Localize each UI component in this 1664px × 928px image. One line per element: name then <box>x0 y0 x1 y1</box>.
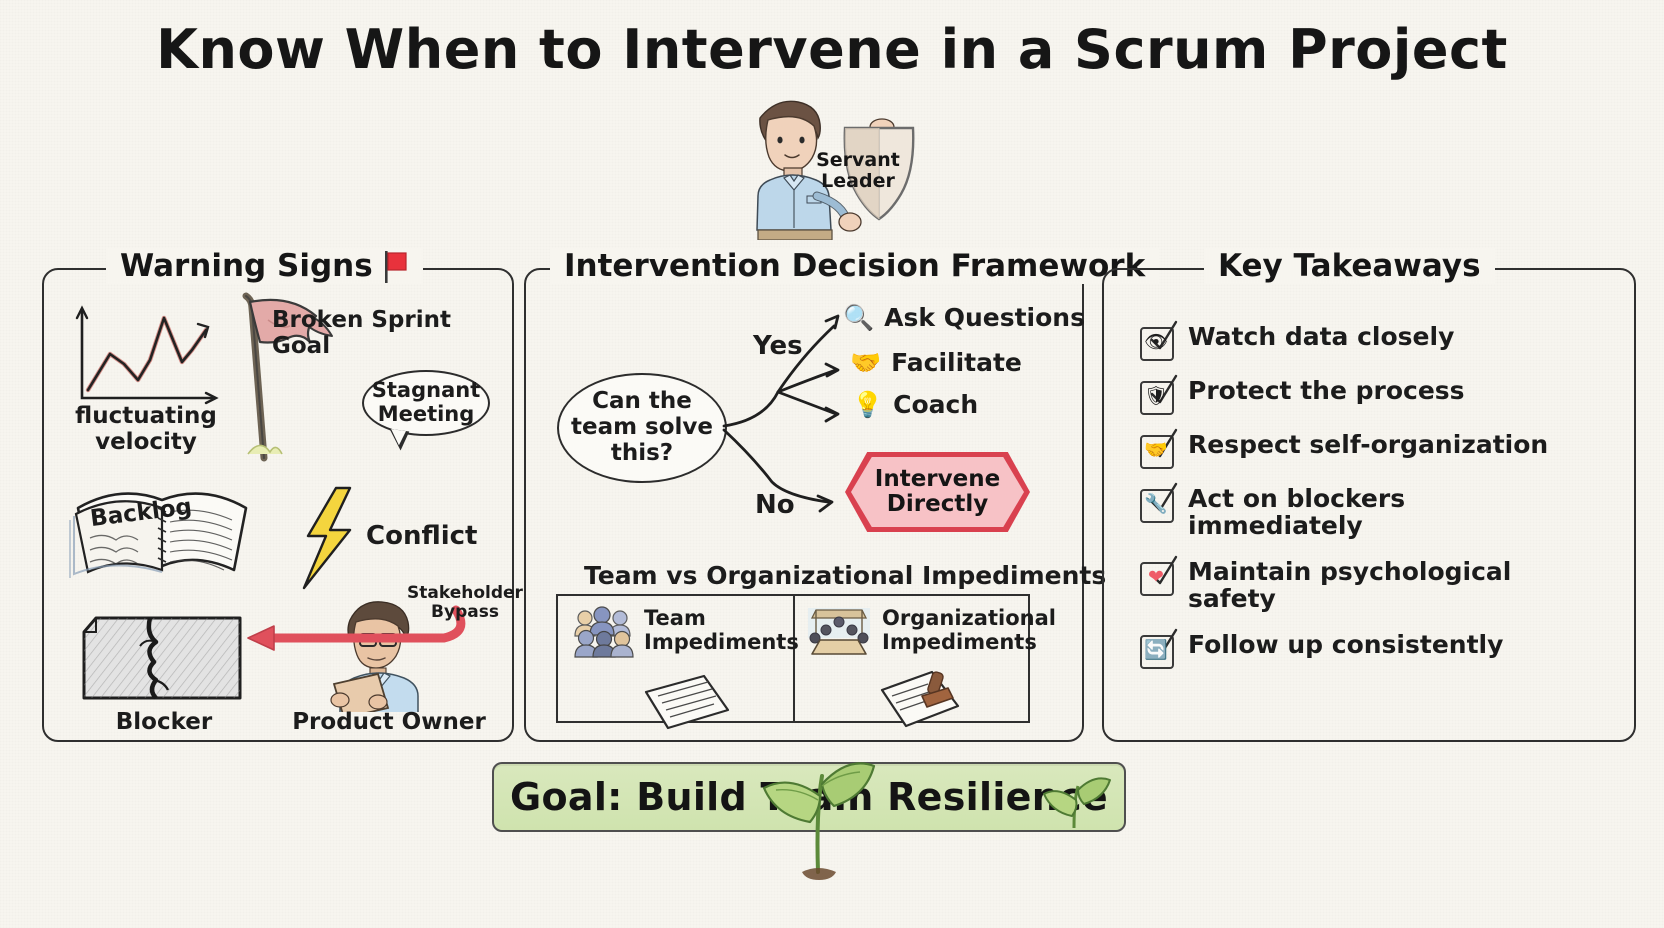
panel-takeaways-title-text: Key Takeaways <box>1218 248 1481 284</box>
takeaway-item-respect-self-organization: 🤝 Respect self-organization <box>1140 430 1616 466</box>
heart-icon: ❤ <box>1140 559 1174 593</box>
branch-ask-questions-label: Ask Questions <box>884 303 1085 332</box>
stakeholder-bypass-label: Stakeholder Bypass <box>400 584 530 622</box>
decision-question-line1: Can the <box>571 389 713 415</box>
refresh-cycle-icon: 🔄 <box>1140 632 1174 666</box>
stagnant-meeting-label-line2: Meeting <box>372 403 480 427</box>
servant-leader-illustration: Servant Leader <box>712 92 942 240</box>
product-owner-label: Product Owner <box>284 710 494 736</box>
stakeholder-bypass-label-line1: Stakeholder <box>400 584 530 603</box>
impediment-team-label-line2: Impediments <box>644 630 799 654</box>
panel-framework-title: Intervention Decision Framework <box>550 248 1159 284</box>
decision-question-line3: this? <box>571 441 713 467</box>
branch-coach: 💡 Coach <box>852 390 978 419</box>
panel-key-takeaways: Key Takeaways 👁 Watch data closely 🛡 Pro… <box>1102 268 1636 742</box>
impediment-cell-organizational: Organizational Impediments <box>806 606 1056 662</box>
goal-banner-text: Goal: Build Team Resilience <box>510 775 1108 819</box>
branch-facilitate: 🤝 Facilitate <box>850 348 1022 377</box>
page-title: Know When to Intervene in a Scrum Projec… <box>0 18 1664 81</box>
shield-label-line1: Servant <box>808 150 908 171</box>
decision-question-text: Can the team solve this? <box>571 389 713 466</box>
intervene-directly-line2: Directly <box>875 492 1000 517</box>
shield-label-line2: Leader <box>808 171 908 192</box>
panel-framework-title-text: Intervention Decision Framework <box>564 248 1145 284</box>
eye-icon: 👁 <box>1140 324 1174 358</box>
impediments-heading: Team vs Organizational Impediments <box>584 561 1106 590</box>
impediment-team-label-line1: Team <box>644 606 706 630</box>
document-icon <box>642 674 734 736</box>
takeaway-label-follow-up-consistently: Follow up consistently <box>1188 630 1503 658</box>
decision-question-node: Can the team solve this? <box>557 373 727 483</box>
impediment-cell-team: Team Impediments <box>572 606 799 662</box>
handshake-icon: 🤝 <box>850 350 881 375</box>
stagnant-meeting-bubble: Stagnant Meeting <box>362 370 490 436</box>
decision-question-line2: team solve <box>571 415 713 441</box>
yes-label: Yes <box>753 332 803 361</box>
goal-banner: Goal: Build Team Resilience <box>492 762 1126 832</box>
fluctuating-velocity-label-line2: velocity <box>66 430 226 456</box>
intervene-directly-line1: Intervene <box>875 467 1000 492</box>
lightning-bolt-icon <box>294 484 364 598</box>
takeaway-label-maintain-psychological-safety: Maintain psychological safety <box>1188 557 1511 612</box>
panel-warning-signs: Warning Signs fluctuating velocity Broke <box>42 268 514 742</box>
takeaway-label-watch-data: Watch data closely <box>1188 322 1454 350</box>
takeaway-label-act-on-blockers-line2: immediately <box>1188 511 1363 540</box>
takeaway-label-maintain-psychological-safety-line2: safety <box>1188 584 1276 613</box>
impediments-box: Team Impediments Organizational Impedime… <box>556 594 1030 723</box>
stagnant-meeting-label: Stagnant Meeting <box>372 379 480 426</box>
impediment-org-label-line1: Organizational <box>882 606 1056 630</box>
cracked-wall-icon <box>80 610 250 714</box>
impediment-org-label: Organizational Impediments <box>882 606 1056 654</box>
conflict-label: Conflict <box>366 522 477 551</box>
panel-warning-title-text: Warning Signs <box>120 248 373 284</box>
backlog-book-icon <box>68 468 268 597</box>
branch-facilitate-label: Facilitate <box>891 348 1022 377</box>
fluctuating-velocity-label-line1: fluctuating <box>66 404 226 430</box>
intervene-directly-node: Intervene Directly <box>845 452 1030 532</box>
panel-takeaways-title: Key Takeaways <box>1204 248 1495 284</box>
stagnant-meeting-label-line1: Stagnant <box>372 379 480 403</box>
rubber-stamp-icon <box>878 668 970 734</box>
takeaway-item-protect-process: 🛡 Protect the process <box>1140 376 1616 412</box>
takeaway-label-act-on-blockers-line1: Act on blockers <box>1188 484 1405 513</box>
takeaway-item-watch-data: 👁 Watch data closely <box>1140 322 1616 358</box>
shield-label: Servant Leader <box>808 150 908 193</box>
impediment-team-label: Team Impediments <box>644 606 799 654</box>
impediment-org-label-line2: Impediments <box>882 630 1037 654</box>
takeaway-label-act-on-blockers: Act on blockers immediately <box>1188 484 1405 539</box>
fluctuating-velocity-chart-icon <box>64 302 224 416</box>
fluctuating-velocity-label: fluctuating velocity <box>66 404 226 456</box>
takeaway-item-maintain-psychological-safety: ❤ Maintain psychological safety <box>1140 557 1616 612</box>
no-label: No <box>755 491 795 520</box>
handshake-icon: 🤝 <box>1140 432 1174 466</box>
branch-coach-label: Coach <box>893 390 978 419</box>
takeaway-item-follow-up-consistently: 🔄 Follow up consistently <box>1140 630 1616 666</box>
takeaway-label-protect-process: Protect the process <box>1188 376 1465 404</box>
stakeholder-bypass-label-line2: Bypass <box>400 603 530 622</box>
sprout-plant-small-icon <box>1040 760 1116 832</box>
lightbulb-icon: 💡 <box>852 392 883 417</box>
broken-sprint-goal-label: Broken Sprint Goal <box>272 308 502 360</box>
red-flag-icon <box>383 251 409 281</box>
branch-ask-questions: 🔍 Ask Questions <box>843 303 1085 332</box>
magnifying-glass-icon: 🔍 <box>843 305 874 330</box>
blocker-label: Blocker <box>84 710 244 736</box>
intervene-directly-text: Intervene Directly <box>845 452 1030 532</box>
takeaway-list: 👁 Watch data closely 🛡 Protect the proce… <box>1140 322 1616 684</box>
takeaway-item-act-on-blockers: 🔧 Act on blockers immediately <box>1140 484 1616 539</box>
shield-icon: 🛡 <box>1140 378 1174 412</box>
boardroom-meeting-icon <box>806 606 872 662</box>
panel-warning-title: Warning Signs <box>106 248 423 284</box>
takeaway-label-maintain-psychological-safety-line1: Maintain psychological <box>1188 557 1511 586</box>
takeaway-label-respect-self-organization: Respect self-organization <box>1188 430 1548 458</box>
group-of-people-icon <box>572 606 634 662</box>
wrench-icon: 🔧 <box>1140 486 1174 520</box>
